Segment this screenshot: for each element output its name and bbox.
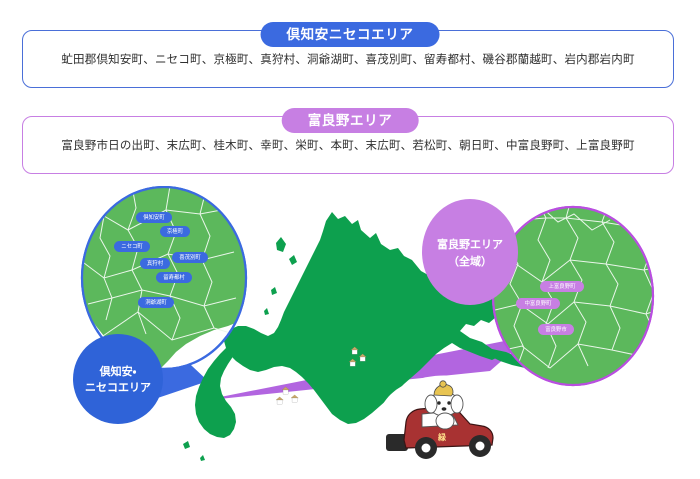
inset-badge-kutchan-niseko: 倶知安・ ニセコエリア	[73, 334, 163, 424]
svg-text:（全域）: （全域）	[448, 254, 492, 268]
area-towns-text-kutchan-niseko: 虻田郡倶知安町、ニセコ町、京極町、真狩村、洞爺湖町、喜茂別町、留寿都村、磯谷郡蘭…	[23, 51, 673, 67]
svg-text:緑: 緑	[437, 432, 447, 442]
svg-text:ニセコ町: ニセコ町	[121, 243, 143, 250]
town-chip: 倶知安町	[136, 212, 172, 223]
inset-badge-furano: 富良野エリア （全域）	[422, 199, 518, 305]
svg-text:真狩村: 真狩村	[147, 259, 164, 267]
town-chip: 留寿都村	[156, 272, 192, 283]
svg-text:喜茂別町: 喜茂別町	[179, 253, 201, 261]
town-chip: 富良野市	[538, 324, 574, 335]
town-chip: 上富良野町	[540, 281, 584, 292]
svg-text:上富良野町: 上富良野町	[549, 282, 577, 290]
map-illustration: 倶知安町 京極町 ニセコ町 喜茂別町 真狩村 留寿都村 洞爺湖町 倶知安・ ニセ…	[0, 186, 700, 479]
svg-text:京極町: 京極町	[167, 227, 184, 235]
svg-text:富良野市: 富良野市	[545, 325, 567, 333]
town-chip: 喜茂別町	[172, 252, 208, 263]
svg-text:倶知安・: 倶知安・	[99, 364, 137, 378]
town-chip: 真狩村	[140, 258, 170, 269]
town-chip: 洞爺湖町	[138, 297, 174, 308]
page-root: 虻田郡倶知安町、ニセコ町、京極町、真狩村、洞爺湖町、喜茂別町、留寿都村、磯谷郡蘭…	[0, 0, 700, 479]
svg-text:中富良野町: 中富良野町	[525, 299, 553, 307]
area-pill-kutchan-niseko: 倶知安ニセコエリア	[261, 22, 440, 47]
town-chip: 中富良野町	[516, 298, 560, 309]
svg-text:留寿都村: 留寿都村	[163, 273, 185, 281]
town-chip: 京極町	[160, 226, 190, 237]
area-towns-text-furano: 富良野市日の出町、末広町、桂木町、幸町、栄町、本町、末広町、若松町、朝日町、中富…	[23, 137, 673, 153]
svg-text:ニセコエリア: ニセコエリア	[85, 381, 151, 394]
area-pill-furano: 富良野エリア	[282, 108, 419, 133]
svg-text:富良野エリア: 富良野エリア	[437, 237, 503, 251]
town-chip: ニセコ町	[114, 241, 150, 252]
svg-text:洞爺湖町: 洞爺湖町	[145, 298, 167, 306]
svg-text:倶知安町: 倶知安町	[143, 213, 165, 221]
